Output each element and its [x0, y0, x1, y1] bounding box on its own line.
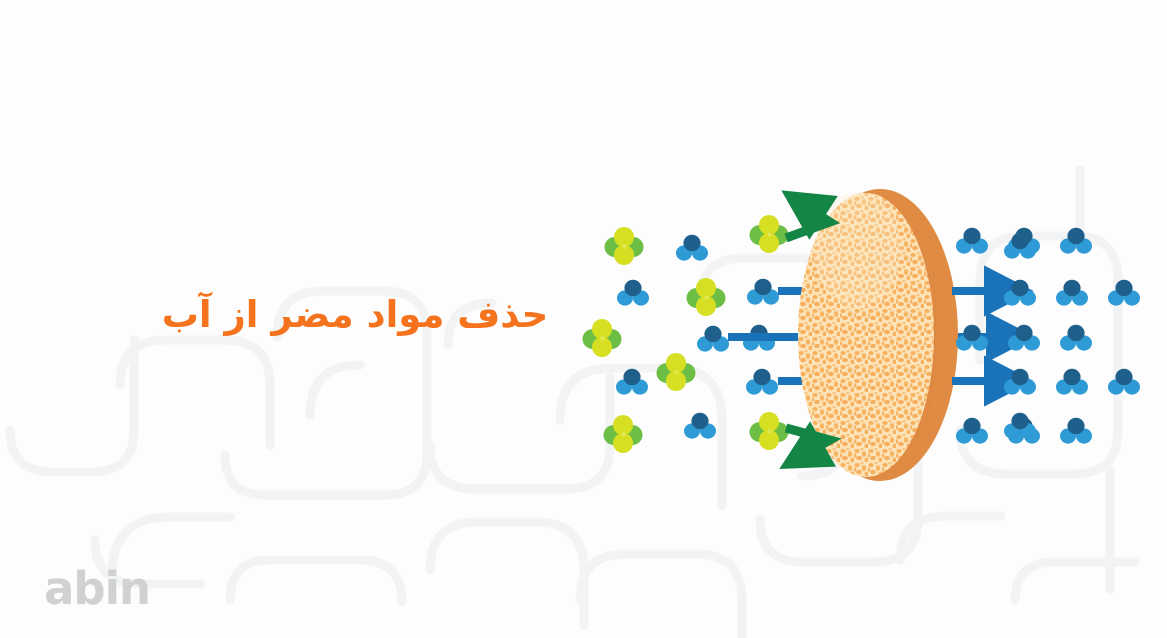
- filtration-diagram: [560, 170, 1167, 500]
- brand-logo-text: abin: [44, 566, 150, 611]
- page-title: حذف مواد مضر از آب: [160, 292, 550, 338]
- brand-logo: abin: [44, 566, 150, 610]
- infographic-canvas: حذف مواد مضر از آب: [0, 0, 1167, 638]
